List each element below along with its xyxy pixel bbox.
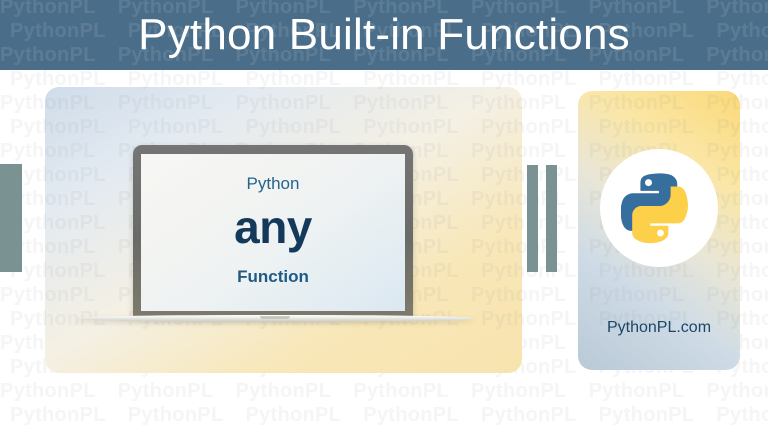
- watermark-text: PythonPL: [10, 404, 106, 426]
- watermark-text: PythonPL: [599, 68, 695, 90]
- laptop-bezel: Python any Function: [133, 145, 413, 317]
- screen-label-top: Python: [141, 174, 405, 194]
- watermark-text: PythonPL: [706, 140, 740, 162]
- watermark-text: PythonPL: [706, 236, 740, 258]
- watermark-text: PythonPL: [706, 284, 740, 306]
- watermark-text: PythonPL: [353, 380, 449, 402]
- watermark-text: PythonPL: [481, 404, 577, 426]
- watermark-text: PythonPL: [118, 380, 214, 402]
- watermark-text: PythonPL: [716, 404, 768, 426]
- watermark-text: PythonPL: [716, 116, 740, 138]
- laptop-card: PythonPLPythonPLPythonPLPythonPLPythonPL…: [45, 87, 522, 373]
- left-accent-bar: [0, 164, 22, 272]
- laptop-illustration: Python any Function: [45, 87, 522, 373]
- watermark-text: PythonPL: [589, 284, 685, 306]
- watermark-text: PythonPL: [245, 404, 341, 426]
- watermark-text: PythonPL: [706, 92, 740, 114]
- watermark-text: PythonPL: [716, 164, 740, 186]
- watermark-text: PythonPL: [589, 380, 685, 402]
- watermark-text: PythonPL: [706, 380, 768, 402]
- divider-bar-2: [546, 165, 557, 272]
- python-logo-icon: [621, 170, 697, 246]
- watermark-text: PythonPL: [0, 380, 96, 402]
- laptop-trackpad-notch: [260, 316, 290, 319]
- watermark-text: PythonPL: [363, 404, 459, 426]
- watermark-text: PythonPL: [599, 116, 695, 138]
- screen-label-bottom: Function: [141, 267, 405, 287]
- slide-canvas: PythonPLPythonPLPythonPLPythonPLPythonPL…: [0, 0, 768, 432]
- laptop-screen: Python any Function: [141, 154, 405, 311]
- watermark-row: PythonPLPythonPLPythonPLPythonPLPythonPL…: [578, 116, 740, 139]
- divider-bar-1: [527, 165, 538, 272]
- watermark-text: PythonPL: [589, 92, 685, 114]
- watermark-text: PythonPL: [716, 260, 740, 282]
- watermark-row: PythonPLPythonPLPythonPLPythonPLPythonPL…: [0, 380, 768, 403]
- screen-function-name: any: [141, 200, 405, 254]
- watermark-text: PythonPL: [235, 380, 331, 402]
- watermark-row: PythonPLPythonPLPythonPLPythonPLPythonPL…: [578, 92, 740, 115]
- watermark-row: PythonPLPythonPLPythonPLPythonPLPythonPL…: [578, 284, 740, 307]
- header-banner: PythonPLPythonPLPythonPLPythonPLPythonPL…: [0, 0, 768, 70]
- watermark-text: PythonPL: [716, 68, 768, 90]
- brand-panel: PythonPLPythonPLPythonPLPythonPLPythonPL…: [578, 91, 740, 370]
- watermark-row: PythonPLPythonPLPythonPLPythonPLPythonPL…: [10, 404, 768, 427]
- watermark-text: PythonPL: [716, 212, 740, 234]
- watermark-text: PythonPL: [599, 404, 695, 426]
- page-title: Python Built-in Functions: [0, 0, 768, 70]
- brand-site-name: PythonPL.com: [578, 319, 740, 337]
- watermark-text: PythonPL: [128, 404, 224, 426]
- watermark-text: PythonPL: [471, 380, 567, 402]
